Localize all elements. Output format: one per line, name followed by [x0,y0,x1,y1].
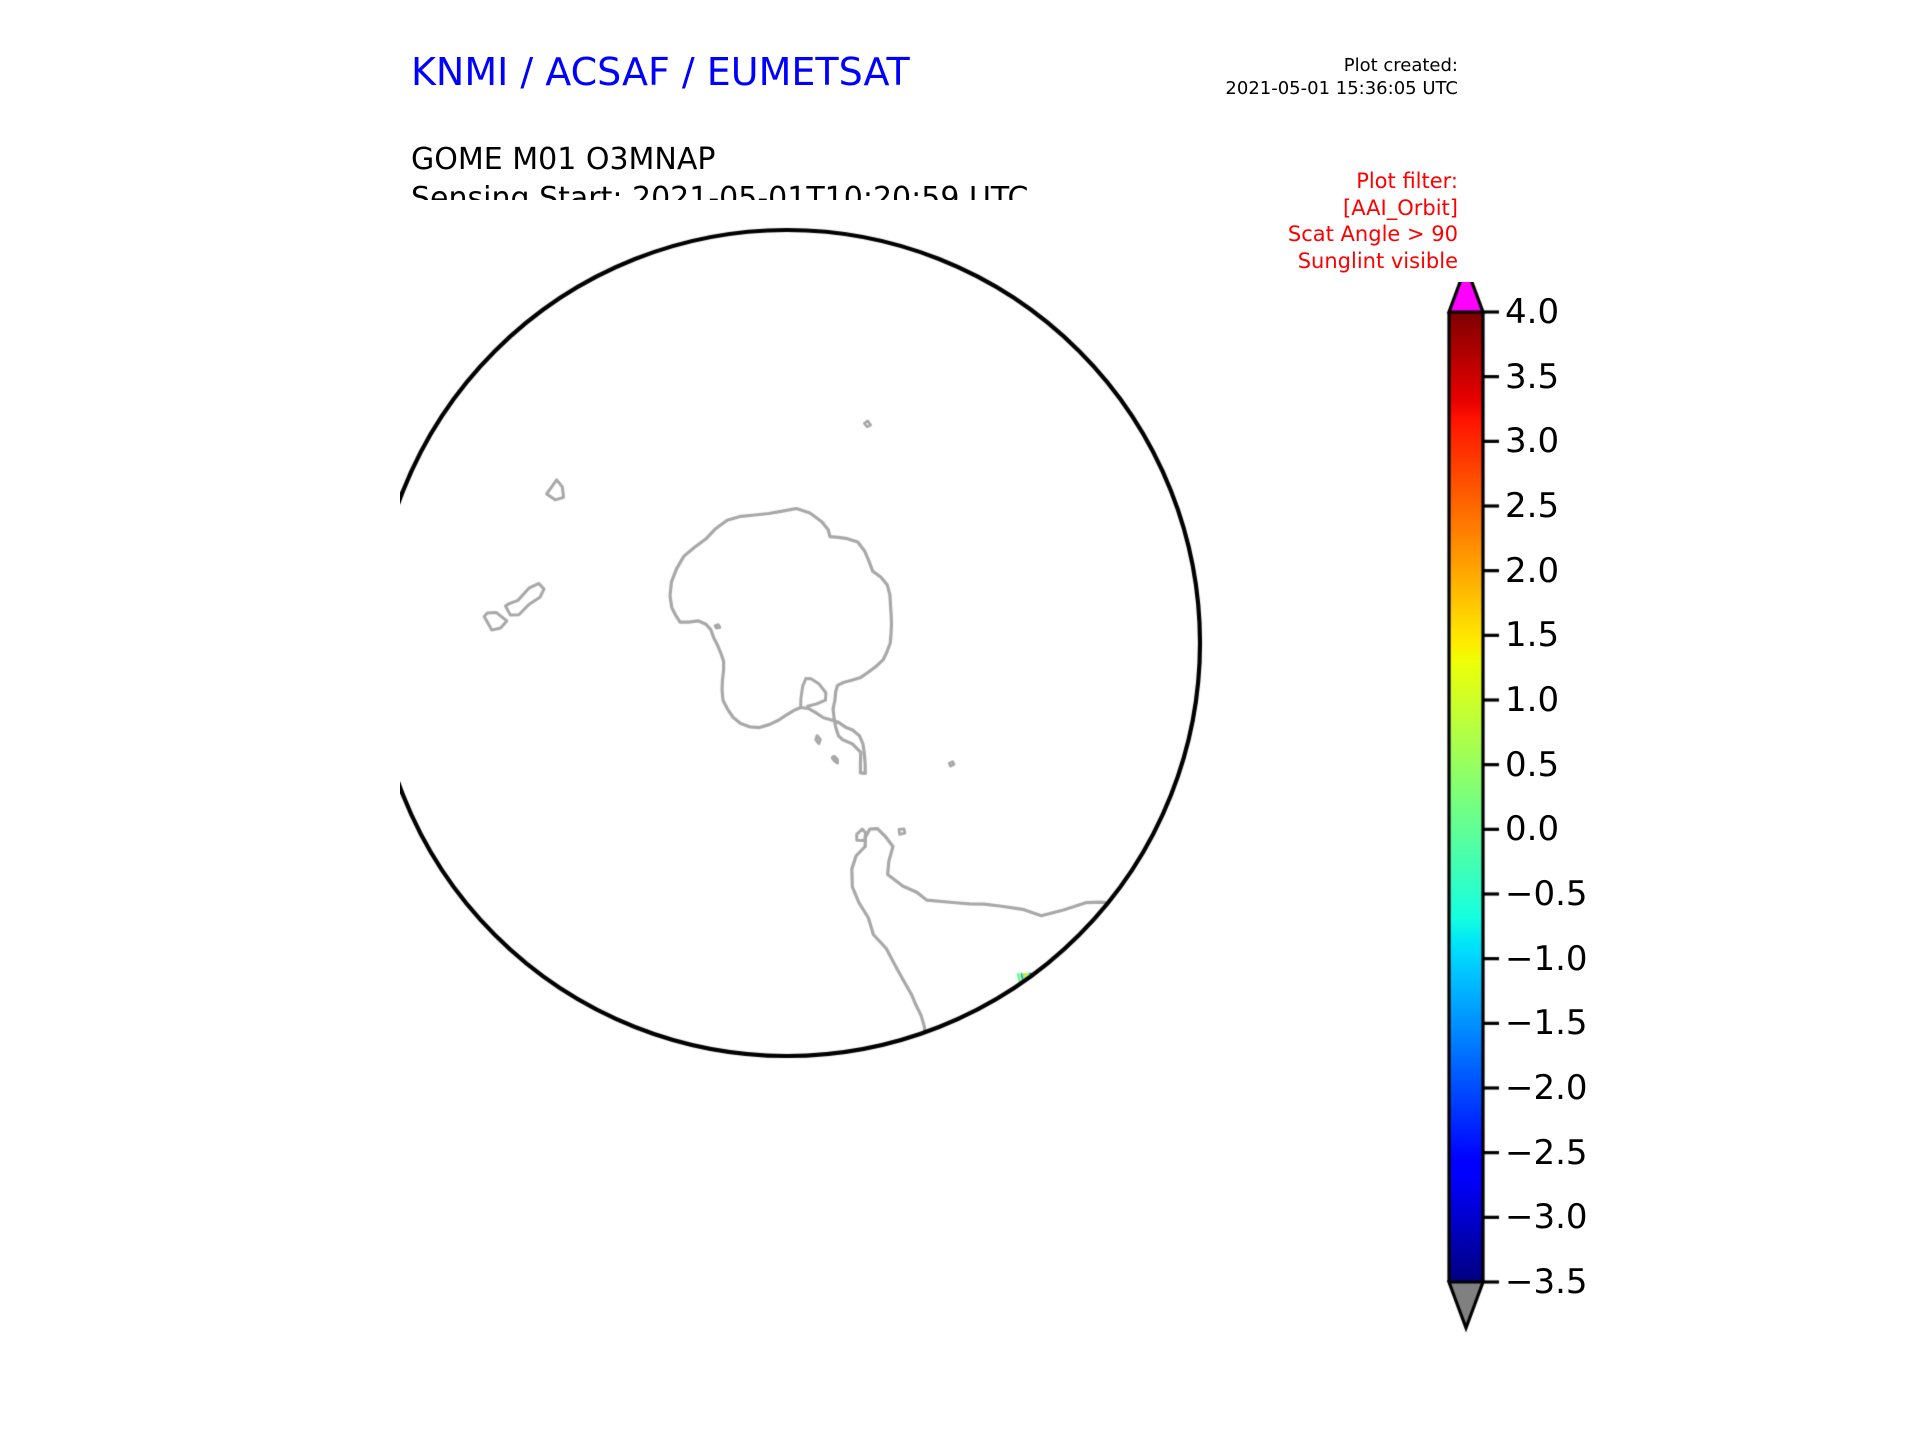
colorbar: 4.03.53.02.52.01.51.00.50.0−0.5−1.0−1.5−… [1443,282,1693,1342]
colorbar-tick-label: −2.0 [1505,1071,1588,1105]
plot-filter-label: Plot filter: [1288,168,1458,195]
instrument-line: GOME M01 O3MNAP [411,140,1028,179]
colorbar-tick-label: 3.0 [1505,424,1559,458]
colorbar-tick-label: −3.5 [1505,1265,1588,1299]
organisation-title: KNMI / ACSAF / EUMETSAT [411,50,910,94]
colorbar-tick-label: −3.0 [1505,1200,1588,1234]
plot-created-label: Plot created: [1225,54,1458,77]
plot-created-block: Plot created: 2021-05-01 15:36:05 UTC [1225,54,1458,100]
colorbar-tick-label: −2.5 [1505,1136,1588,1170]
figure-canvas: KNMI / ACSAF / EUMETSAT Plot created: 20… [0,0,1920,1440]
colorbar-tick-label: 1.0 [1505,683,1559,717]
colorbar-tick-label: −0.5 [1505,877,1588,911]
plot-filter-product: [AAI_Orbit] [1288,195,1458,222]
colorbar-tick-label: 2.0 [1505,554,1559,588]
plot-created-timestamp: 2021-05-01 15:36:05 UTC [1225,77,1458,100]
colorbar-tick-label: 4.0 [1505,295,1559,329]
colorbar-gradient [1443,282,1503,1342]
polar-map [400,200,1280,1100]
colorbar-tick-label: 2.5 [1505,489,1559,523]
colorbar-tick-label: 0.0 [1505,812,1559,846]
colorbar-tick-label: −1.0 [1505,942,1588,976]
colorbar-tick-label: 0.5 [1505,748,1559,782]
colorbar-tick-label: 1.5 [1505,618,1559,652]
colorbar-tick-label: 3.5 [1505,360,1559,394]
colorbar-tick-label: −1.5 [1505,1006,1588,1040]
